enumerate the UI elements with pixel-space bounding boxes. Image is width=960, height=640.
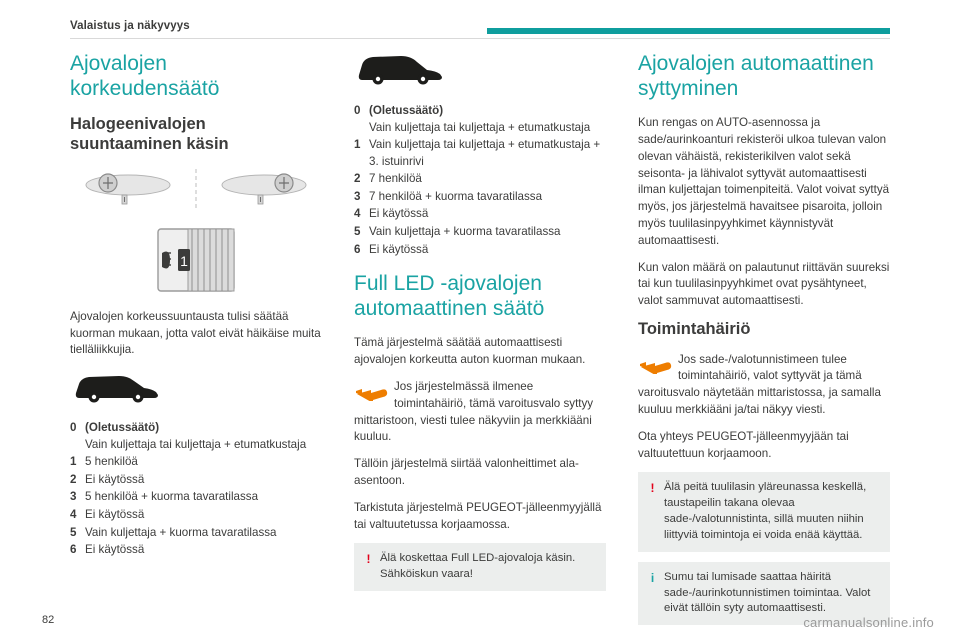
warning-note-text: Älä peitä tuulilasin yläreunassa keskell… xyxy=(664,481,866,540)
list-item-label: Vain kuljettaja tai kuljettaja + etumatk… xyxy=(369,138,600,168)
header-divider xyxy=(70,38,890,39)
column1-paragraph: Ajovalojen korkeussuuntausta tulisi säät… xyxy=(70,309,322,359)
exclamation-icon: ! xyxy=(647,480,658,497)
column2-icon-paragraph-text: Jos järjestelmässä ilmenee toimintahäiri… xyxy=(354,380,593,443)
list-item: 5 Vain kuljettaja + kuorma tavaratilassa xyxy=(354,224,606,241)
page-header: Valaistus ja näkyvyys xyxy=(0,0,960,40)
list-item: 2 Ei käytössä xyxy=(70,472,322,489)
service-wrench-warning-icon xyxy=(354,381,388,403)
list-item: 1 Vain kuljettaja tai kuljettaja + etuma… xyxy=(354,137,606,170)
list-item-number: 2 xyxy=(354,171,360,188)
list-item-label: Ei käytössä xyxy=(85,543,144,556)
list-item-number: 1 xyxy=(70,454,76,471)
list-item: 6 Ei käytössä xyxy=(354,242,606,259)
car-silhouette-icon xyxy=(354,52,444,86)
list-item-label: 7 henkilöä + kuorma tavaratilassa xyxy=(369,190,542,203)
warning-note-sensor: ! Älä peitä tuulilasin yläreunassa keske… xyxy=(638,472,890,551)
column2-icon-paragraph: Jos järjestelmässä ilmenee toimintahäiri… xyxy=(354,379,606,446)
list-item-number: 6 xyxy=(354,242,360,259)
column-1: Ajovalojen korkeudensäätö Halogeenivaloj… xyxy=(70,52,322,567)
list-item-label: 5 henkilöä + kuorma tavaratilassa xyxy=(85,490,258,503)
list-item-label: (Oletussäätö) xyxy=(85,421,159,434)
list-item-label: Vain kuljettaja + kuorma tavaratilassa xyxy=(85,526,277,539)
column2-paragraph-1: Tämä järjestelmä säätää automaattisesti … xyxy=(354,335,606,369)
list-item-sublabel: Vain kuljettaja tai kuljettaja + etumatk… xyxy=(85,438,306,451)
list-item-label: Ei käytössä xyxy=(85,473,144,486)
list-item-number: 1 xyxy=(354,137,360,154)
list-item: 3 5 henkilöä + kuorma tavaratilassa xyxy=(70,489,322,506)
column-3: Ajovalojen automaattinen syttyminen Kun … xyxy=(638,52,890,635)
info-note-text: Sumu tai lumisade saattaa häiritä sade-/… xyxy=(664,571,870,615)
list-item-number: 0 xyxy=(354,103,360,120)
column2-setting-list: 0 (Oletussäätö) Vain kuljettaja tai kulj… xyxy=(354,103,606,258)
list-item-number: 6 xyxy=(70,542,76,559)
subsection-title-toimintahairio: Toimintahäiriö xyxy=(638,320,890,340)
list-item: 6 Ei käytössä xyxy=(70,542,322,559)
list-item-label: Vain kuljettaja + kuorma tavaratilassa xyxy=(369,225,561,238)
list-item: 0 (Oletussäätö) Vain kuljettaja tai kulj… xyxy=(70,420,322,453)
list-item: 3 7 henkilöä + kuorma tavaratilassa xyxy=(354,189,606,206)
list-item-number: 2 xyxy=(70,472,76,489)
car-silhouette-icon xyxy=(70,369,160,403)
list-item-number: 3 xyxy=(354,189,360,206)
column3-paragraph-1: Kun rengas on AUTO-asennossa ja sade/aur… xyxy=(638,115,890,249)
list-item: 1 5 henkilöä xyxy=(70,454,322,471)
list-item-number: 4 xyxy=(354,206,360,223)
list-item: 4 Ei käytössä xyxy=(70,507,322,524)
list-item: 4 Ei käytössä xyxy=(354,206,606,223)
column3-icon-paragraph-text: Jos sade-/valotunnistimeen tulee toimint… xyxy=(638,353,881,416)
list-item-sublabel: Vain kuljettaja tai kuljettaja + etumatk… xyxy=(369,121,590,134)
section-title-automaattinen-syttyminen: Ajovalojen automaattinen syttyminen xyxy=(638,52,890,101)
list-item-label: Ei käytössä xyxy=(85,508,144,521)
column-2: 0 (Oletussäätö) Vain kuljettaja tai kulj… xyxy=(354,52,606,601)
column2-paragraph-2: Tällöin järjestelmä siirtää valonheittim… xyxy=(354,456,606,490)
warning-note-text: Älä koskettaa Full LED-ajovaloja käsin. … xyxy=(380,552,575,580)
page-number: 82 xyxy=(42,614,54,626)
list-item-number: 5 xyxy=(70,525,76,542)
column2-paragraph-3: Tarkistuta järjestelmä PEUGEOT-jälleenmy… xyxy=(354,500,606,534)
list-item-label: (Oletussäätö) xyxy=(369,104,443,117)
list-item: 5 Vain kuljettaja + kuorma tavaratilassa xyxy=(70,525,322,542)
list-item: 2 7 henkilöä xyxy=(354,171,606,188)
list-item-number: 3 xyxy=(70,489,76,506)
column1-setting-list: 0 (Oletussäätö) Vain kuljettaja tai kulj… xyxy=(70,420,322,559)
watermark: carmanualsonline.info xyxy=(803,615,934,630)
list-item-number: 4 xyxy=(70,507,76,524)
list-item-label: Ei käytössä xyxy=(369,207,428,220)
list-item: 0 (Oletussäätö) Vain kuljettaja tai kulj… xyxy=(354,103,606,136)
column3-paragraph-2: Kun valon määrä on palautunut riittävän … xyxy=(638,260,890,310)
info-icon: i xyxy=(647,570,658,587)
exclamation-icon: ! xyxy=(363,551,374,568)
section-title-full-led: Full LED -ajovalojen automaattinen säätö xyxy=(354,272,606,321)
column3-paragraph-3: Ota yhteys PEUGEOT-jälleenmyyjään tai va… xyxy=(638,429,890,463)
car-illustration-2 xyxy=(354,52,606,91)
subsection-title-halogeenivalojen: Halogeenivalojen suuntaaminen käsin xyxy=(70,115,322,155)
headlight-level-dial-icon: 1 xyxy=(70,225,322,297)
list-item-label: 7 henkilöä xyxy=(369,172,422,185)
column3-icon-paragraph: Jos sade-/valotunnistimeen tulee toimint… xyxy=(638,352,890,419)
header-accent-bar xyxy=(487,28,890,34)
rain-light-sensor-warning-icon xyxy=(638,354,672,376)
car-illustration-1 xyxy=(70,369,322,408)
list-item-number: 0 xyxy=(70,420,76,437)
page-header-title: Valaistus ja näkyvyys xyxy=(70,20,190,32)
list-item-label: 5 henkilöä xyxy=(85,455,138,468)
warning-note-full-led: ! Älä koskettaa Full LED-ajovaloja käsin… xyxy=(354,543,606,591)
headlight-aim-illustration xyxy=(70,167,322,213)
section-title-ajovalojen-korkeudensaato: Ajovalojen korkeudensäätö xyxy=(70,52,322,101)
list-item-label: Ei käytössä xyxy=(369,243,428,256)
headlight-pair-icon xyxy=(70,167,322,213)
svg-text:1: 1 xyxy=(180,253,188,269)
headlight-level-dial-illustration: 1 xyxy=(70,225,322,297)
list-item-number: 5 xyxy=(354,224,360,241)
